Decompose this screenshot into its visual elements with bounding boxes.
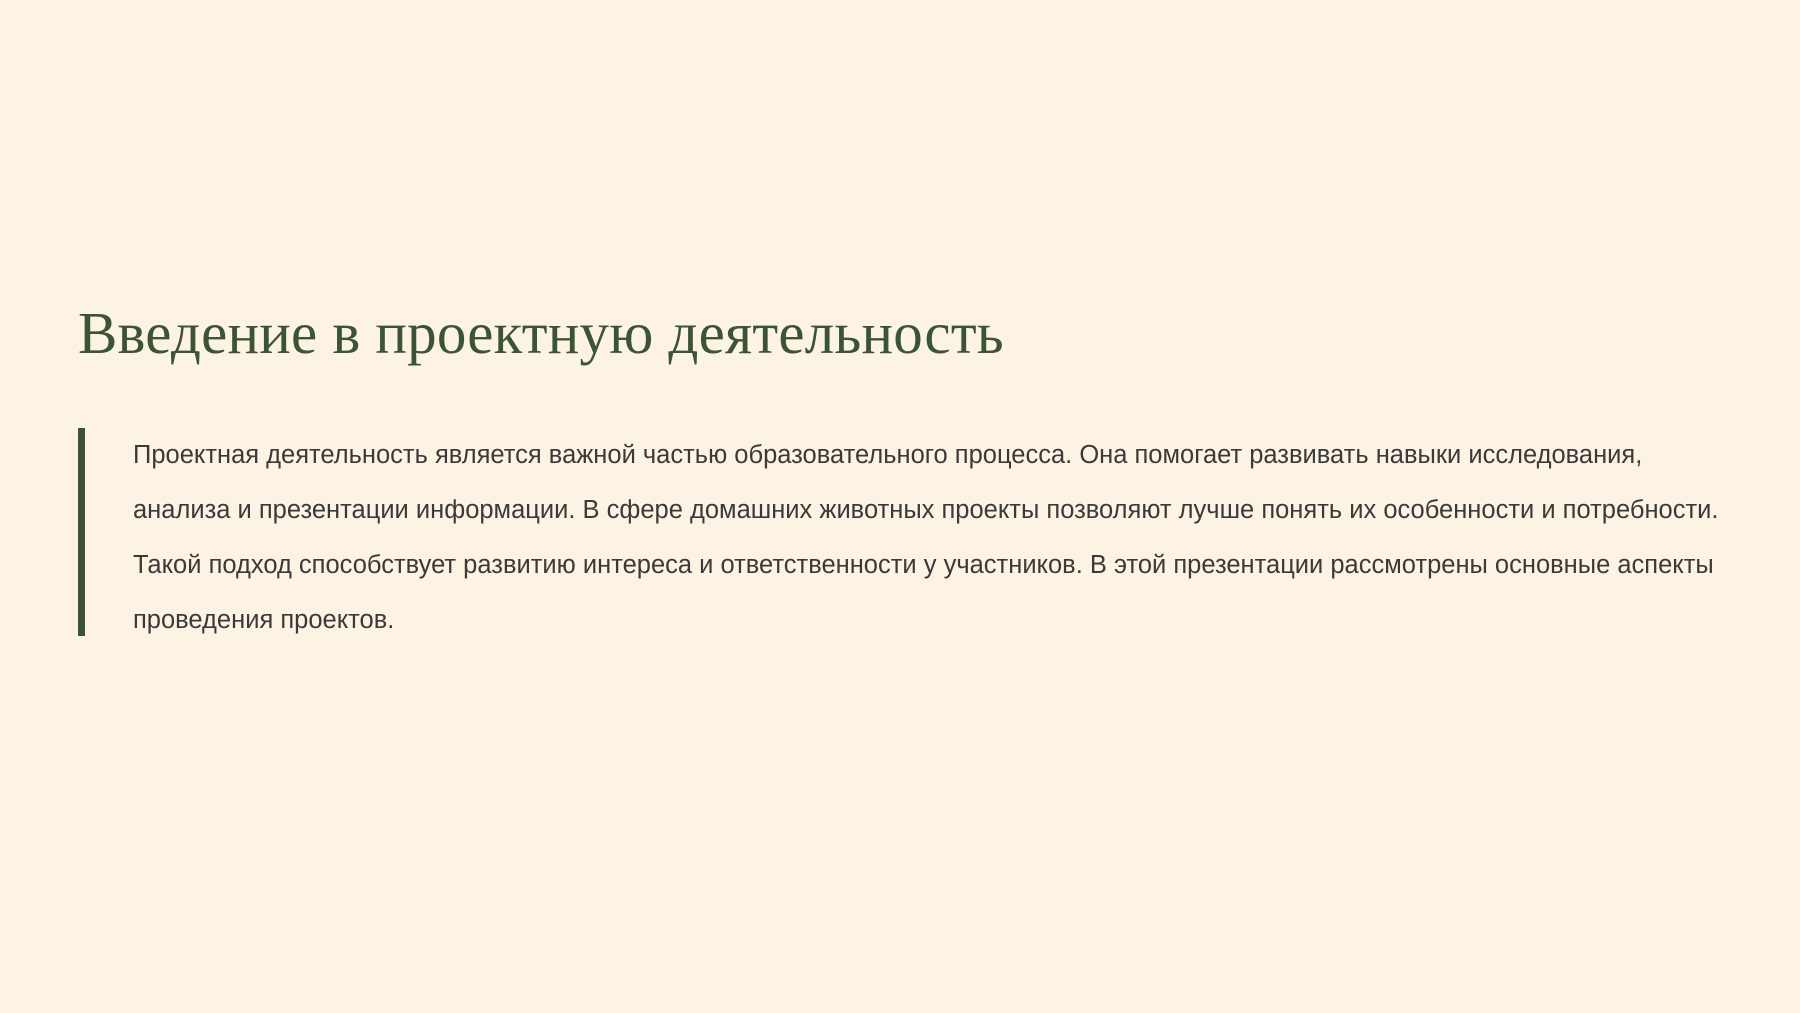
accent-bar-decoration: [78, 428, 85, 636]
slide-content: Введение в проектную деятельность Проект…: [78, 300, 1738, 648]
presentation-slide: Введение в проектную деятельность Проект…: [0, 0, 1800, 1013]
body-paragraph: Проектная деятельность является важной ч…: [133, 428, 1738, 648]
body-quote-block: Проектная деятельность является важной ч…: [78, 428, 1738, 648]
page-title: Введение в проектную деятельность: [78, 300, 1738, 366]
